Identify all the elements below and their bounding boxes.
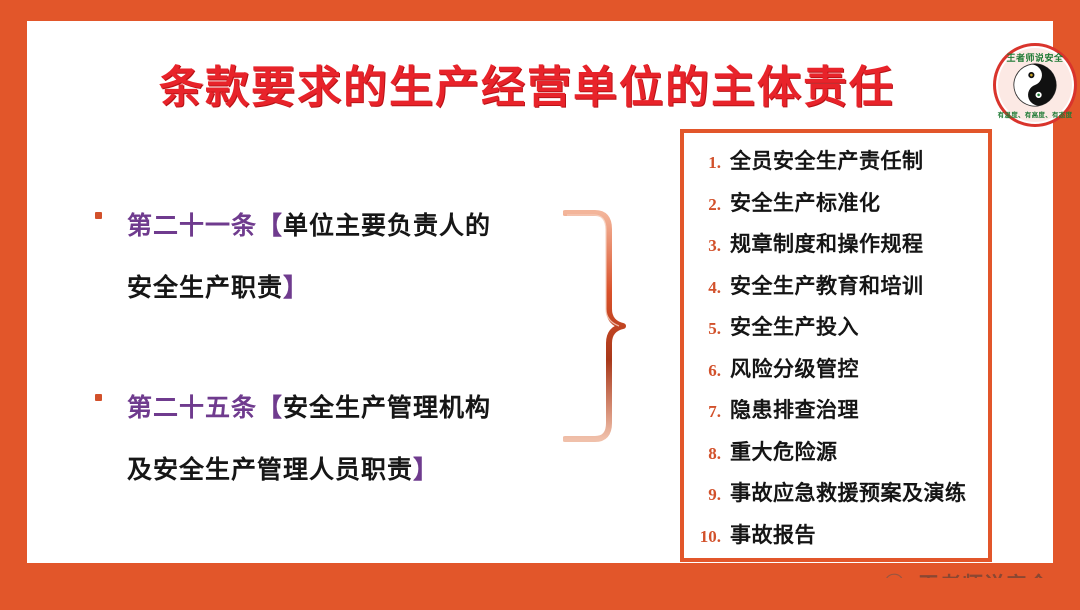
logo-text-bottom: 有温度、有高度、有态度 <box>993 113 1077 120</box>
page-title: 条款要求的生产经营单位的主体责任 <box>87 51 967 115</box>
list-item-label: 安全生产教育和培训 <box>730 270 924 300</box>
list-item: 第二十一条【单位主要负责人的 安全生产职责】 <box>89 196 559 320</box>
list-item-label: 重大危险源 <box>730 436 838 466</box>
list-item: 10. 事故报告 <box>692 519 978 561</box>
bracket-open: 【 <box>257 395 283 422</box>
bracket-close: 】 <box>283 275 309 302</box>
bullet-dot-icon <box>95 212 102 219</box>
list-item-number: 7. <box>692 402 730 422</box>
list-item: 4. 安全生产教育和培训 <box>692 270 978 312</box>
list-item: 7. 隐患排查治理 <box>692 394 978 436</box>
list-item: 8. 重大危险源 <box>692 436 978 478</box>
taiji-logo: 王者师说安全 有温度、有高度、有态度 <box>993 43 1077 127</box>
list-item-label: 隐患排查治理 <box>730 394 859 424</box>
clause-line-1: 第二十一条【单位主要负责人的 <box>127 196 559 258</box>
slide-content-frame: 条款要求的生产经营单位的主体责任 王者师说安全 有温度、有高度、有态度 第二十一… <box>18 12 1062 572</box>
bullet-dot-icon <box>95 394 102 401</box>
responsibility-list-box: 1. 全员安全生产责任制 2. 安全生产标准化 3. 规章制度和操作规程 4. … <box>680 129 992 562</box>
clause-number: 第二十五条 <box>127 395 257 422</box>
list-item-number: 9. <box>692 485 730 505</box>
list-item-number: 4. <box>692 278 730 298</box>
slide-root: 条款要求的生产经营单位的主体责任 王者师说安全 有温度、有高度、有态度 第二十一… <box>0 0 1080 610</box>
list-item: 第二十五条【安全生产管理机构 及安全生产管理人员职责】 <box>89 378 559 502</box>
list-item-number: 1. <box>692 153 730 173</box>
bracket-open: 【 <box>257 213 283 240</box>
list-item-label: 规章制度和操作规程 <box>730 228 924 258</box>
list-item: 5. 安全生产投入 <box>692 311 978 353</box>
list-item-label: 安全生产投入 <box>730 311 859 341</box>
clause-line-2: 及安全生产管理人员职责】 <box>127 440 559 502</box>
list-item-number: 5. <box>692 319 730 339</box>
list-item: 2. 安全生产标准化 <box>692 187 978 229</box>
list-item: 1. 全员安全生产责任制 <box>692 145 978 187</box>
list-item-number: 3. <box>692 236 730 256</box>
list-item-number: 10. <box>692 527 730 547</box>
list-item-label: 全员安全生产责任制 <box>730 145 924 175</box>
bracket-close: 】 <box>413 457 439 484</box>
clause-text-part2: 及安全生产管理人员职责 <box>127 457 413 484</box>
list-item-label: 风险分级管控 <box>730 353 859 383</box>
list-item-number: 8. <box>692 444 730 464</box>
clause-bullet-list: 第二十一条【单位主要负责人的 安全生产职责】 第二十五条【安全生产管理机构 及安… <box>89 196 559 560</box>
clause-text-part2: 安全生产职责 <box>127 275 283 302</box>
list-item-label: 事故应急救援预案及演练 <box>730 477 967 507</box>
bottom-accent-band <box>0 578 1080 610</box>
curly-brace <box>563 207 673 445</box>
list-item: 3. 规章制度和操作规程 <box>692 228 978 270</box>
list-item: 9. 事故应急救援预案及演练 <box>692 477 978 519</box>
list-item-number: 6. <box>692 361 730 381</box>
list-item: 6. 风险分级管控 <box>692 353 978 395</box>
list-item-label: 安全生产标准化 <box>730 187 881 217</box>
list-item-label: 事故报告 <box>730 519 816 549</box>
clause-line-1: 第二十五条【安全生产管理机构 <box>127 378 559 440</box>
clause-line-2: 安全生产职责】 <box>127 258 559 320</box>
list-item-number: 2. <box>692 195 730 215</box>
clause-text-part1: 安全生产管理机构 <box>283 395 491 422</box>
clause-text-part1: 单位主要负责人的 <box>283 213 491 240</box>
clause-number: 第二十一条 <box>127 213 257 240</box>
